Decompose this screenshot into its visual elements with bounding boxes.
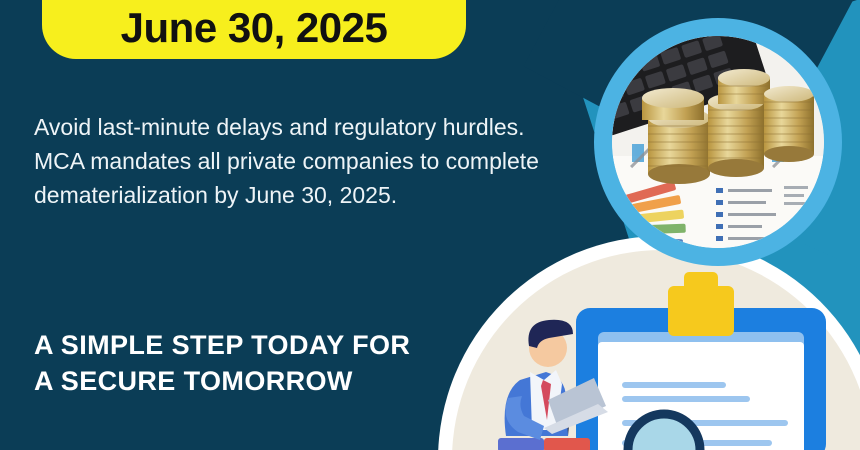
body-copy: Avoid last-minute delays and regulatory … <box>34 110 554 212</box>
body-paragraph-1: Avoid last-minute delays and regulatory … <box>34 110 554 144</box>
deadline-badge: Before June 30, 2025 <box>42 0 466 59</box>
tagline-line-2: A SECURE TOMORROW <box>34 364 504 400</box>
body-paragraph-2: MCA mandates all private companies to co… <box>34 144 554 212</box>
clipboard-illustration <box>452 250 860 450</box>
badge-line-date: June 30, 2025 <box>42 6 466 50</box>
coins-photo <box>612 36 824 248</box>
coins-photo-ring <box>594 18 842 266</box>
tagline-line-1: A SIMPLE STEP TODAY FOR <box>34 328 504 364</box>
poster-canvas: Before June 30, 2025 Avoid last-minute d… <box>0 0 860 450</box>
tagline: A SIMPLE STEP TODAY FOR A SECURE TOMORRO… <box>34 328 504 399</box>
